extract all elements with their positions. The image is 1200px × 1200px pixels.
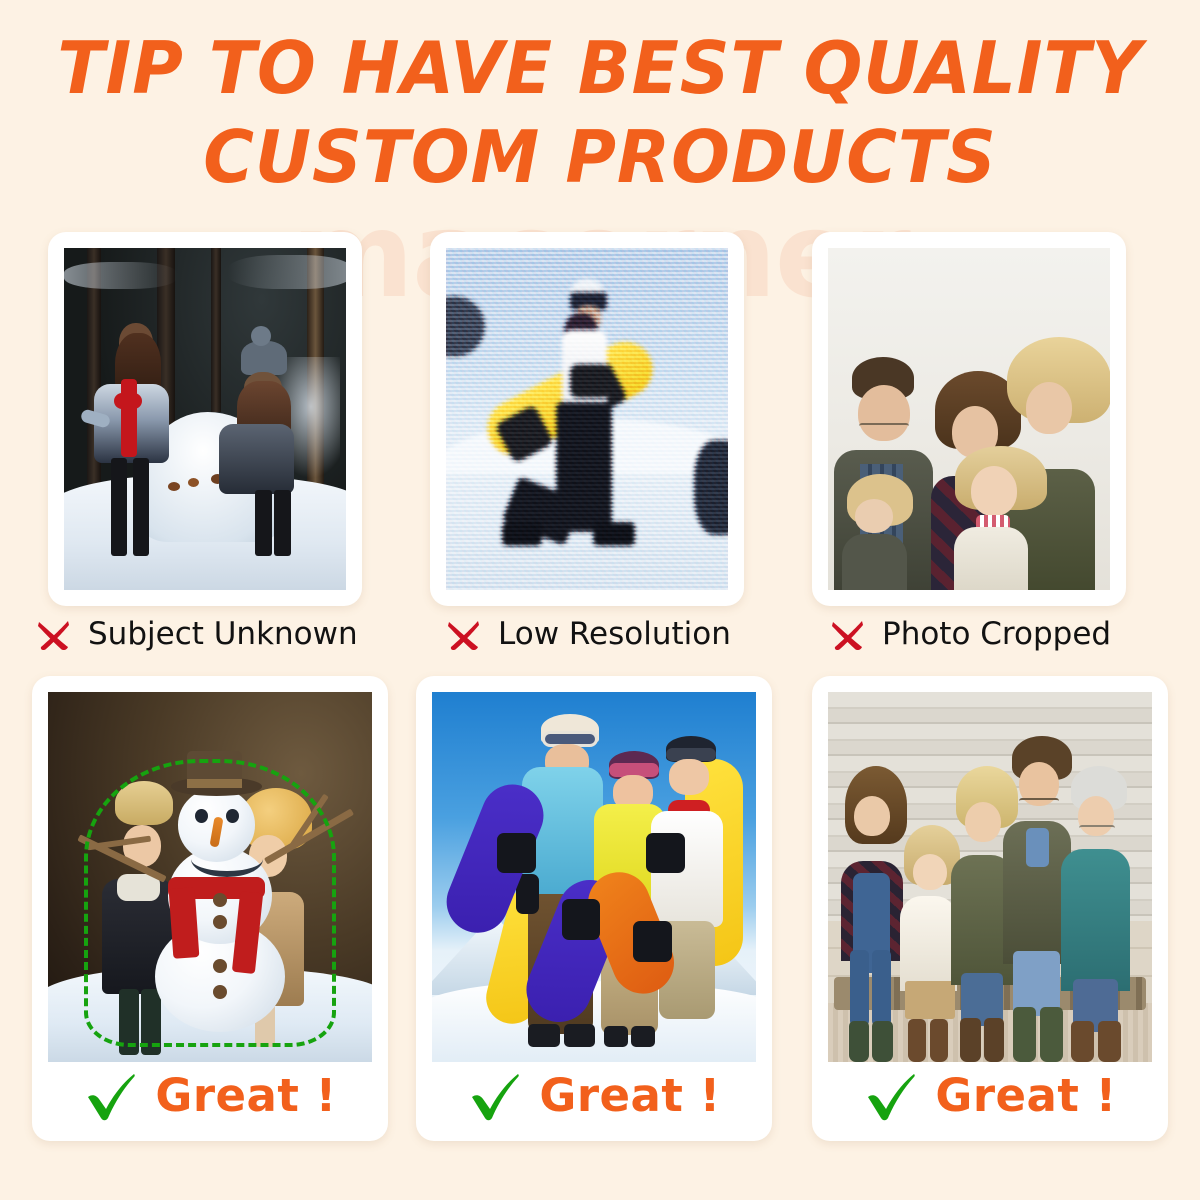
caption-photo-cropped: Photo Cropped — [828, 608, 1111, 660]
selection-outline — [84, 759, 337, 1048]
caption-subject-unknown: Subject Unknown — [34, 608, 358, 660]
photo-great-family — [828, 692, 1152, 1062]
caption-label: Great ! — [539, 1069, 720, 1122]
photo-great-snowboarders — [432, 692, 756, 1062]
caption-low-resolution: Low Resolution — [444, 608, 731, 660]
x-mark-icon — [34, 614, 74, 654]
caption-label: Great ! — [935, 1069, 1116, 1122]
photo-great-snowman — [48, 692, 372, 1062]
x-mark-icon — [828, 614, 868, 654]
page-title-line-1: TIP TO HAVE BEST QUALITY — [24, 24, 1176, 113]
photo-subject-unknown — [64, 248, 346, 590]
photo-photo-cropped — [828, 248, 1110, 590]
poster-root: macorner TIP TO HAVE BEST QUALITY CUSTOM… — [0, 0, 1200, 1200]
page-title: TIP TO HAVE BEST QUALITY CUSTOM PRODUCTS — [0, 24, 1200, 203]
card-low-resolution[interactable] — [430, 232, 744, 606]
page-title-line-2: CUSTOM PRODUCTS — [24, 113, 1176, 202]
check-mark-icon — [467, 1068, 523, 1124]
caption-great-family: Great ! — [828, 1062, 1152, 1125]
card-great-snowboarders[interactable]: Great ! — [416, 676, 772, 1141]
card-great-snowman[interactable]: Great ! — [32, 676, 388, 1141]
card-great-family[interactable]: Great ! — [812, 676, 1168, 1141]
check-mark-icon — [83, 1068, 139, 1124]
caption-label: Photo Cropped — [882, 616, 1111, 652]
caption-label: Subject Unknown — [88, 616, 358, 652]
caption-label: Great ! — [155, 1069, 336, 1122]
check-mark-icon — [863, 1068, 919, 1124]
card-subject-unknown[interactable] — [48, 232, 362, 606]
caption-label: Low Resolution — [498, 616, 731, 652]
photo-low-resolution — [446, 248, 728, 590]
x-mark-icon — [444, 614, 484, 654]
caption-great-snowman: Great ! — [48, 1062, 372, 1125]
caption-great-snowboarders: Great ! — [432, 1062, 756, 1125]
card-photo-cropped[interactable] — [812, 232, 1126, 606]
